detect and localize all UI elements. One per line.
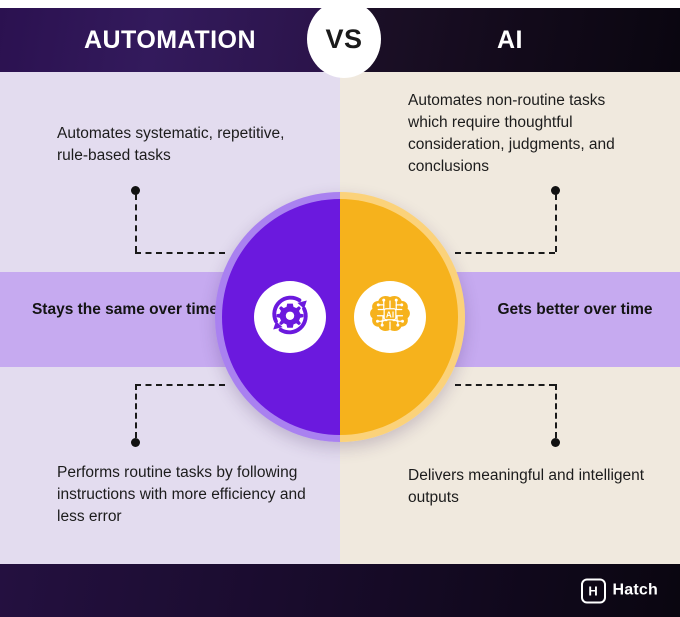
gear-refresh-icon bbox=[265, 290, 315, 345]
vs-badge: VS bbox=[307, 0, 381, 78]
header-automation-title: AUTOMATION bbox=[84, 26, 256, 55]
circle-inner: AI bbox=[222, 199, 458, 435]
automation-top-text: Automates systematic, repetitive, rule-b… bbox=[57, 123, 307, 167]
header-automation-side: AUTOMATION bbox=[0, 8, 340, 72]
header-ai-side: AI bbox=[340, 8, 680, 72]
footer-bar: H Hatch bbox=[0, 564, 680, 617]
automation-icon-disc bbox=[254, 281, 326, 353]
connector-line-horizontal bbox=[135, 384, 225, 386]
ai-brain-circuit-icon: AI bbox=[365, 290, 415, 345]
automation-bottom-text: Performs routine tasks by following inst… bbox=[57, 462, 307, 528]
connector-line-horizontal bbox=[455, 252, 555, 254]
connector-line-horizontal bbox=[455, 384, 555, 386]
ai-band-text: Gets better over time bbox=[450, 299, 680, 321]
hatch-logo-icon: H bbox=[581, 578, 606, 603]
brand-name: Hatch bbox=[613, 582, 658, 600]
automation-vs-ai-infographic: Automates systematic, repetitive, rule-b… bbox=[0, 0, 680, 617]
connector-line-vertical bbox=[135, 194, 137, 252]
brand-logo: H Hatch bbox=[581, 578, 658, 603]
vs-label: VS bbox=[325, 24, 362, 55]
connector-dot bbox=[551, 438, 560, 447]
automation-band-text: Stays the same over time bbox=[0, 299, 250, 321]
ai-top-text: Automates non-routine tasks which requir… bbox=[408, 90, 648, 178]
ai-bottom-text: Delivers meaningful and intelligent outp… bbox=[408, 465, 648, 509]
connector-line-vertical bbox=[555, 194, 557, 252]
ai-icon-disc: AI bbox=[354, 281, 426, 353]
ai-icon-label: AI bbox=[386, 310, 394, 319]
connector-line-vertical bbox=[555, 384, 557, 438]
connector-line-horizontal bbox=[135, 252, 225, 254]
connector-dot bbox=[131, 438, 140, 447]
circle-half-automation bbox=[222, 199, 340, 435]
split-circle: AI bbox=[215, 192, 465, 442]
header-ai-title: AI bbox=[497, 26, 523, 55]
circle-half-ai: AI bbox=[340, 199, 458, 435]
connector-line-vertical bbox=[135, 384, 137, 438]
